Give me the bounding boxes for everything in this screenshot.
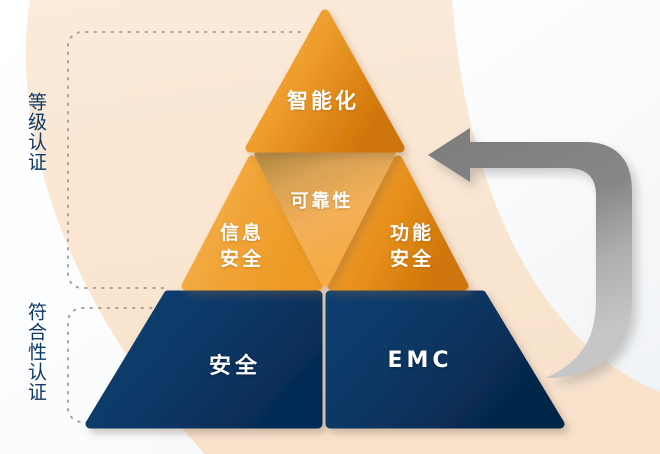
certification-pyramid-diagram: 等级认证 符合性认证 智能化 可靠性 信息 安全 功能 安全 安全 EMC	[0, 0, 660, 454]
pyramid-layer	[0, 0, 660, 454]
side-label-compliance-certification: 符合性认证	[24, 302, 47, 402]
block-emc[interactable]	[330, 295, 560, 424]
side-label-grade-certification: 等级认证	[24, 92, 47, 172]
block-intelligence[interactable]	[250, 14, 400, 148]
